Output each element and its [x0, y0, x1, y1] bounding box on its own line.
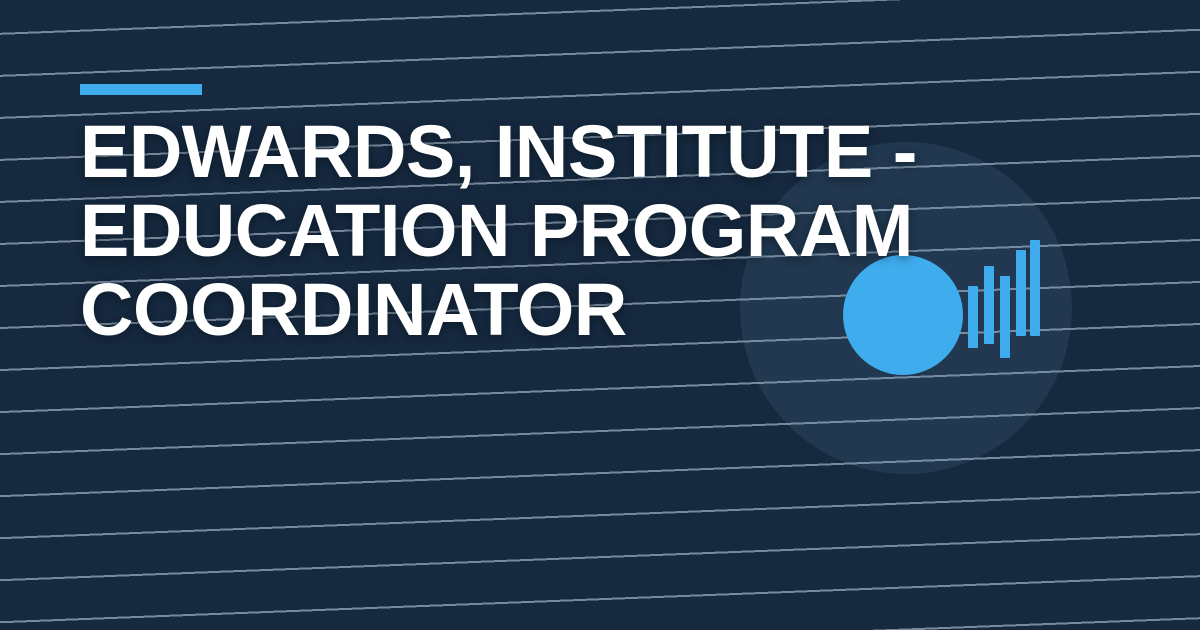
- accent-rule: [80, 84, 202, 95]
- social-share-card: Edwards, Institute - Education Program C…: [0, 0, 1200, 630]
- page-title: Edwards, Institute - Education Program C…: [80, 112, 1110, 350]
- headline-block: Edwards, Institute - Education Program C…: [80, 0, 1120, 630]
